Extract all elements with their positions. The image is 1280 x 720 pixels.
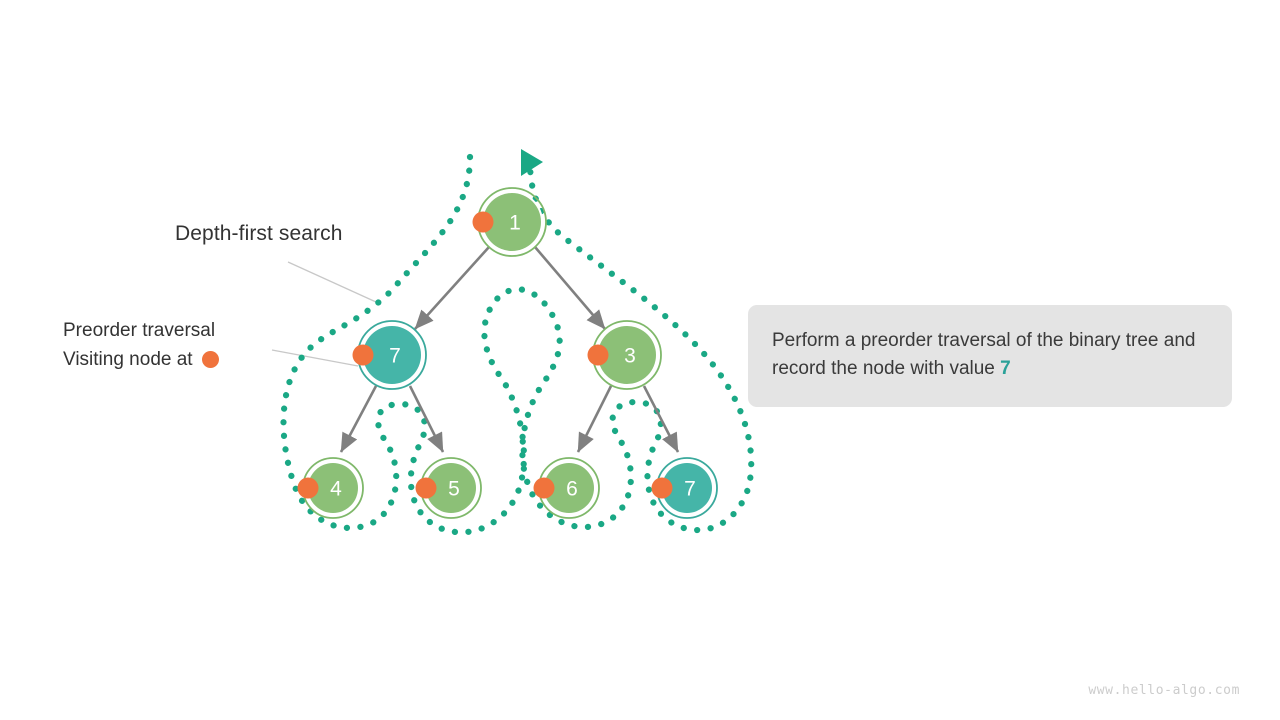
node-value-label: 6 (566, 478, 578, 501)
tree-node-7-n2[interactable]: 7 (353, 321, 427, 389)
edge-1-3 (535, 247, 605, 329)
tree-node-5-n5[interactable]: 5 (416, 458, 482, 518)
leader-line-legend (272, 350, 358, 366)
diagram-canvas: 1734567 Depth-first search Preorder trav… (0, 0, 1280, 720)
tree-node-3-n3[interactable]: 3 (588, 321, 662, 389)
legend-line-preorder: Preorder traversal (63, 316, 219, 345)
node-visit-marker-icon (353, 345, 374, 366)
edge-3-7b (644, 386, 678, 452)
tree-node-7-n7[interactable]: 7 (652, 458, 718, 518)
node-value-label: 7 (684, 478, 696, 501)
node-value-label: 5 (448, 478, 460, 501)
tree-node-6-n6[interactable]: 6 (534, 458, 600, 518)
node-value-label: 7 (389, 345, 401, 368)
node-visit-marker-icon (534, 478, 555, 499)
legend-block: Preorder traversal Visiting node at (63, 316, 219, 374)
info-box-highlight-value: 7 (1000, 358, 1011, 379)
node-value-label: 4 (330, 478, 342, 501)
visit-marker-icon (202, 351, 219, 368)
leader-line-dfs (288, 262, 376, 302)
info-box: Perform a preorder traversal of the bina… (748, 305, 1232, 407)
node-value-label: 3 (624, 345, 636, 368)
watermark: www.hello-algo.com (1088, 683, 1240, 698)
node-visit-marker-icon (652, 478, 673, 499)
info-box-text: Perform a preorder traversal of the bina… (772, 330, 1195, 379)
tree-node-4-n4[interactable]: 4 (298, 458, 364, 518)
legend-line-visiting: Visiting node at (63, 345, 219, 374)
legend-visiting-text: Visiting node at (63, 345, 193, 374)
edge-7-4 (341, 386, 376, 452)
node-visit-marker-icon (416, 478, 437, 499)
tree-nodes: 1734567 (298, 188, 718, 518)
node-value-label: 1 (509, 212, 521, 235)
edge-1-7 (415, 247, 489, 329)
dfs-label: Depth-first search (175, 222, 343, 246)
edge-3-6 (578, 386, 611, 452)
node-visit-marker-icon (473, 212, 494, 233)
node-visit-marker-icon (588, 345, 609, 366)
node-visit-marker-icon (298, 478, 319, 499)
edge-7-5 (410, 386, 443, 452)
